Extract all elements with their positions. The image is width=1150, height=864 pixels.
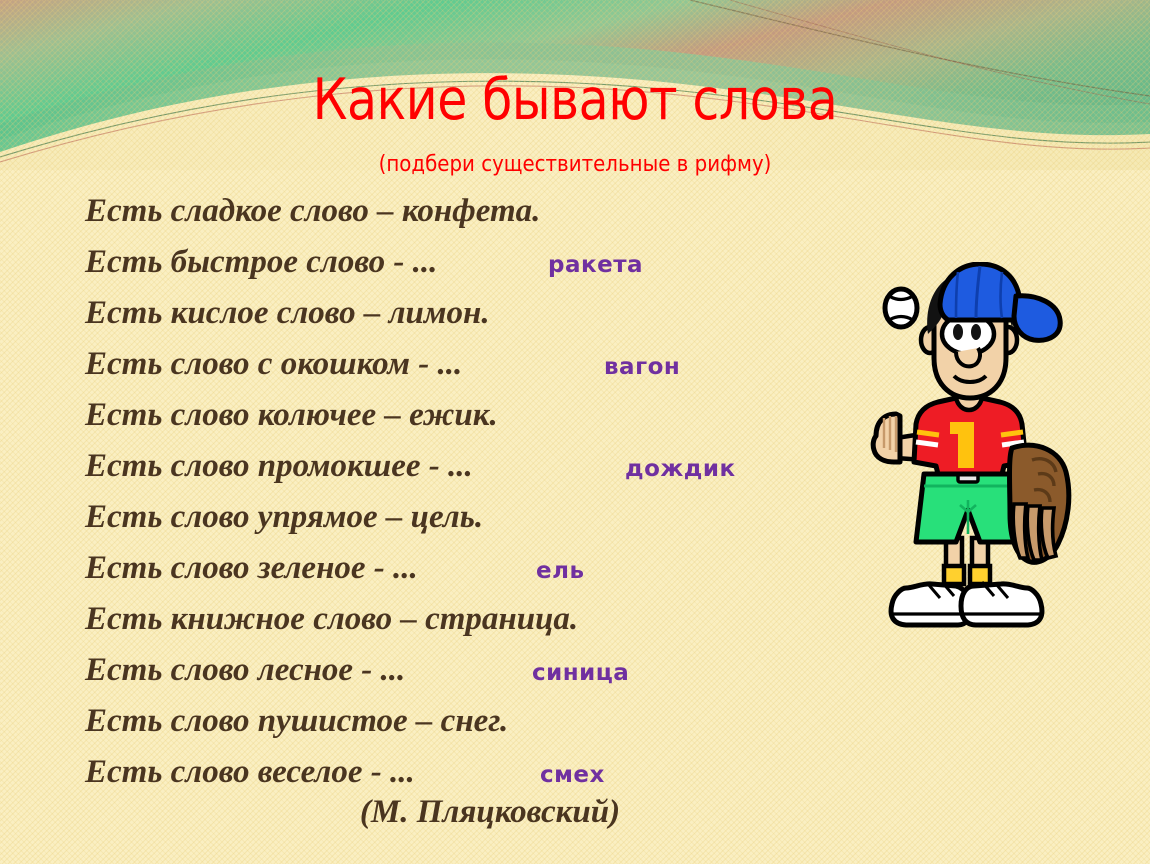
poem-phrase: Есть слово колючее – ежик.: [85, 390, 498, 441]
poem-line: Есть кислое слово – лимон.: [0, 288, 820, 339]
poem-phrase: Есть слово пушистое – снег.: [85, 696, 508, 747]
cartoon-boy-illustration: [862, 262, 1082, 632]
poem-phrase: Есть слово зеленое - ...: [85, 543, 418, 594]
poem-phrase: Есть слово с окошком - ...: [85, 339, 462, 390]
poem-phrase: Есть книжное слово – страница.: [85, 594, 578, 645]
poem-answer: вагон: [604, 339, 680, 395]
poem-line: Есть слово упрямое – цель.: [0, 492, 820, 543]
sneakers: [891, 582, 1042, 625]
poem-answer: ракета: [548, 237, 643, 293]
poem-block: Есть сладкое слово – конфета. Есть быстр…: [0, 186, 820, 798]
poem-line: Есть слово лесное - ... синица: [0, 645, 820, 696]
poem-line: Есть сладкое слово – конфета.: [0, 186, 820, 237]
poem-answer: дождик: [625, 441, 736, 497]
shorts: [916, 474, 1020, 542]
poem-phrase: Есть быстрое слово - ...: [85, 237, 437, 288]
page-title: Какие бывают слова: [81, 72, 1070, 129]
poem-line: Есть книжное слово – страница.: [0, 594, 820, 645]
poem-phrase: Есть слово упрямое – цель.: [85, 492, 483, 543]
poem-line: Есть слово колючее – ежик.: [0, 390, 820, 441]
poem-line: Есть слово пушистое – снег.: [0, 696, 820, 747]
baseball-glove: [1010, 445, 1069, 562]
slide-canvas: Какие бывают слова (подбери существитель…: [0, 0, 1150, 864]
poem-phrase: Есть сладкое слово – конфета.: [85, 186, 540, 237]
poem-line: Есть быстрое слово - ... ракета: [0, 237, 820, 288]
poem-phrase: Есть кислое слово – лимон.: [85, 288, 490, 339]
poem-answer: синица: [532, 645, 629, 701]
poem-phrase: Есть слово лесное - ...: [85, 645, 405, 696]
poem-line: Есть слово промокшее - ... дождик: [0, 441, 820, 492]
poem-line: Есть слово веселое - ... смех: [0, 747, 820, 798]
poem-phrase: Есть слово веселое - ...: [85, 747, 415, 798]
page-subtitle: (подбери существительные в рифму): [58, 152, 1093, 177]
baseball-icon: [885, 289, 917, 327]
poem-answer: ель: [536, 543, 585, 599]
poem-line: Есть слово с окошком - ... вагон: [0, 339, 820, 390]
poem-phrase: Есть слово промокшее - ...: [85, 441, 473, 492]
poem-line: Есть слово зеленое - ... ель: [0, 543, 820, 594]
author-attribution: (М. Пляцковский): [0, 794, 980, 831]
